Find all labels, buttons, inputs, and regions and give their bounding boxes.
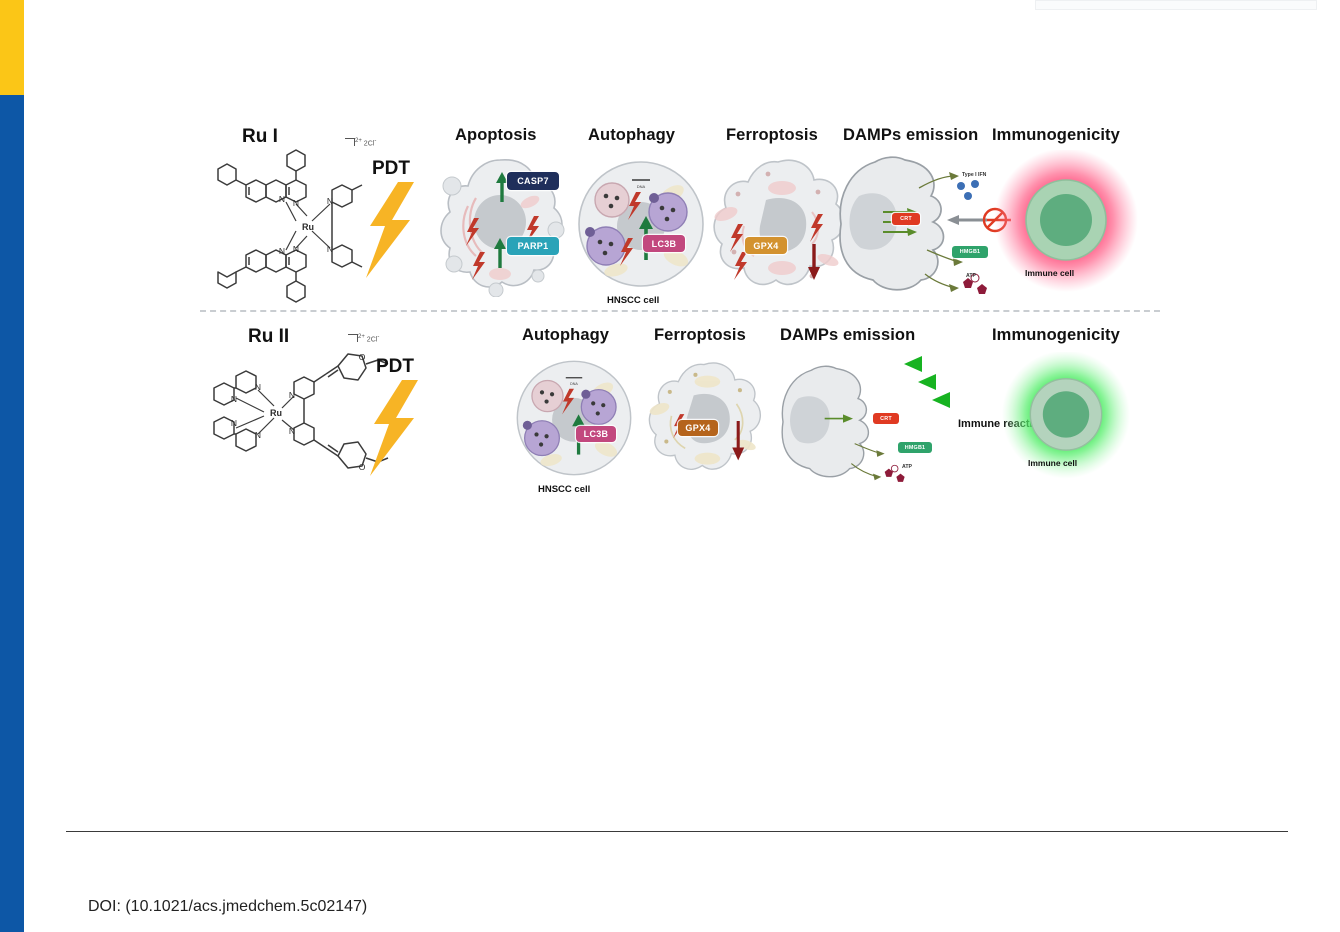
svg-text:DNA: DNA — [570, 382, 578, 386]
marker-badge-gpx4-row2: GPX4 — [678, 420, 718, 436]
marker-badge-lc3b-row2: LC3B — [576, 426, 616, 442]
damps-item-atp-row2: ATP — [902, 464, 912, 470]
column-title-immunogenicity: Immunogenicity — [992, 126, 1120, 145]
accent-bar-blue — [0, 95, 24, 932]
svg-text:N: N — [327, 244, 333, 254]
marker-badge-gpx4-row1: GPX4 — [745, 237, 787, 254]
svg-text:N: N — [289, 390, 295, 400]
damps-emission-illustration-row1 — [835, 154, 1015, 299]
svg-text:O: O — [359, 352, 366, 362]
cell-label-hnscc-row2: HNSCC cell — [538, 484, 590, 495]
doi-text: DOI: (10.1021/acs.jmedchem.5c02147) — [88, 898, 367, 916]
marker-badge-casp7: CASP7 — [507, 172, 559, 190]
svg-text:N: N — [293, 244, 299, 254]
graphical-abstract-figure: Ru I — [180, 120, 1170, 520]
counter-ion-charge: 2+ — [355, 138, 362, 144]
counter-ion-anion: 2Cl — [364, 140, 375, 147]
damps-badge-hmgb1-row2: HMGB1 — [898, 442, 932, 453]
svg-text:N: N — [279, 246, 285, 256]
lightning-bolt-icon-row2 — [368, 380, 424, 476]
marker-badge-lc3b-row1: LC3B — [643, 235, 685, 252]
counter-ion-anion-2: 2Cl — [367, 336, 378, 343]
damps-item-type-i-ifn-row1: Type I IFN — [962, 172, 986, 178]
svg-text:O: O — [359, 462, 366, 472]
cell-label-immune-row2: Immune cell — [1028, 458, 1077, 468]
counter-ion-charge-2: 2+ — [358, 334, 365, 340]
svg-text:N: N — [231, 394, 237, 404]
svg-text:N: N — [231, 418, 237, 428]
footer-divider — [66, 831, 1288, 832]
pdt-label-row1: PDT — [372, 158, 410, 180]
cell-label-hnscc-row1: HNSCC cell — [607, 295, 659, 306]
svg-text:N: N — [279, 194, 285, 204]
damps-badge-crt-row1: CRT — [892, 213, 920, 225]
column-title-damps: DAMPs emission — [843, 126, 978, 145]
figure-row-ru-ii: Ru II — [180, 318, 1170, 503]
column-title-autophagy-row2: Autophagy — [522, 326, 609, 345]
column-title-autophagy: Autophagy — [588, 126, 675, 145]
svg-text:N: N — [293, 198, 299, 208]
svg-text:DNA: DNA — [637, 184, 646, 189]
svg-text:N: N — [327, 196, 333, 206]
damps-item-atp-row1: ATP — [966, 273, 976, 279]
ferroptosis-cell-illustration-row1 — [708, 152, 848, 297]
counter-ion-anion-charge: - — [374, 138, 376, 144]
cell-label-immune-row1: Immune cell — [1025, 268, 1074, 278]
column-title-immunogenicity-row2: Immunogenicity — [992, 326, 1120, 345]
svg-text:Ru: Ru — [270, 408, 282, 418]
marker-badge-parp1: PARP1 — [507, 237, 559, 255]
autophagy-cell-illustration-row2: DNA — [510, 354, 638, 482]
svg-text:Ru: Ru — [302, 222, 314, 232]
column-title-ferroptosis-row2: Ferroptosis — [654, 326, 746, 345]
svg-text:N: N — [255, 430, 261, 440]
column-title-ferroptosis: Ferroptosis — [726, 126, 818, 145]
counter-ion-ru-i: 2+ 2Cl- — [345, 138, 376, 147]
column-title-damps-row2: DAMPs emission — [780, 326, 915, 345]
damps-badge-hmgb1-row1: HMGB1 — [952, 246, 988, 258]
figure-row-ru-i: Ru I — [180, 120, 1170, 312]
lightning-bolt-icon-row1 — [364, 182, 420, 278]
top-right-placeholder-box — [1035, 0, 1317, 10]
counter-ion-anion-charge-2: - — [377, 334, 379, 340]
autophagy-cell-illustration-row1: DNA — [572, 154, 710, 294]
svg-text:N: N — [289, 426, 295, 436]
svg-text:N: N — [255, 382, 261, 392]
counter-ion-ru-ii: 2+ 2Cl- — [348, 334, 379, 343]
column-title-apoptosis: Apoptosis — [455, 126, 537, 145]
pdt-label-row2: PDT — [376, 356, 414, 378]
accent-bar-yellow — [0, 0, 24, 95]
ferroptosis-cell-illustration-row2 — [642, 356, 766, 480]
chemical-structure-ru-i: NN NN NN Ru — [208, 142, 388, 310]
